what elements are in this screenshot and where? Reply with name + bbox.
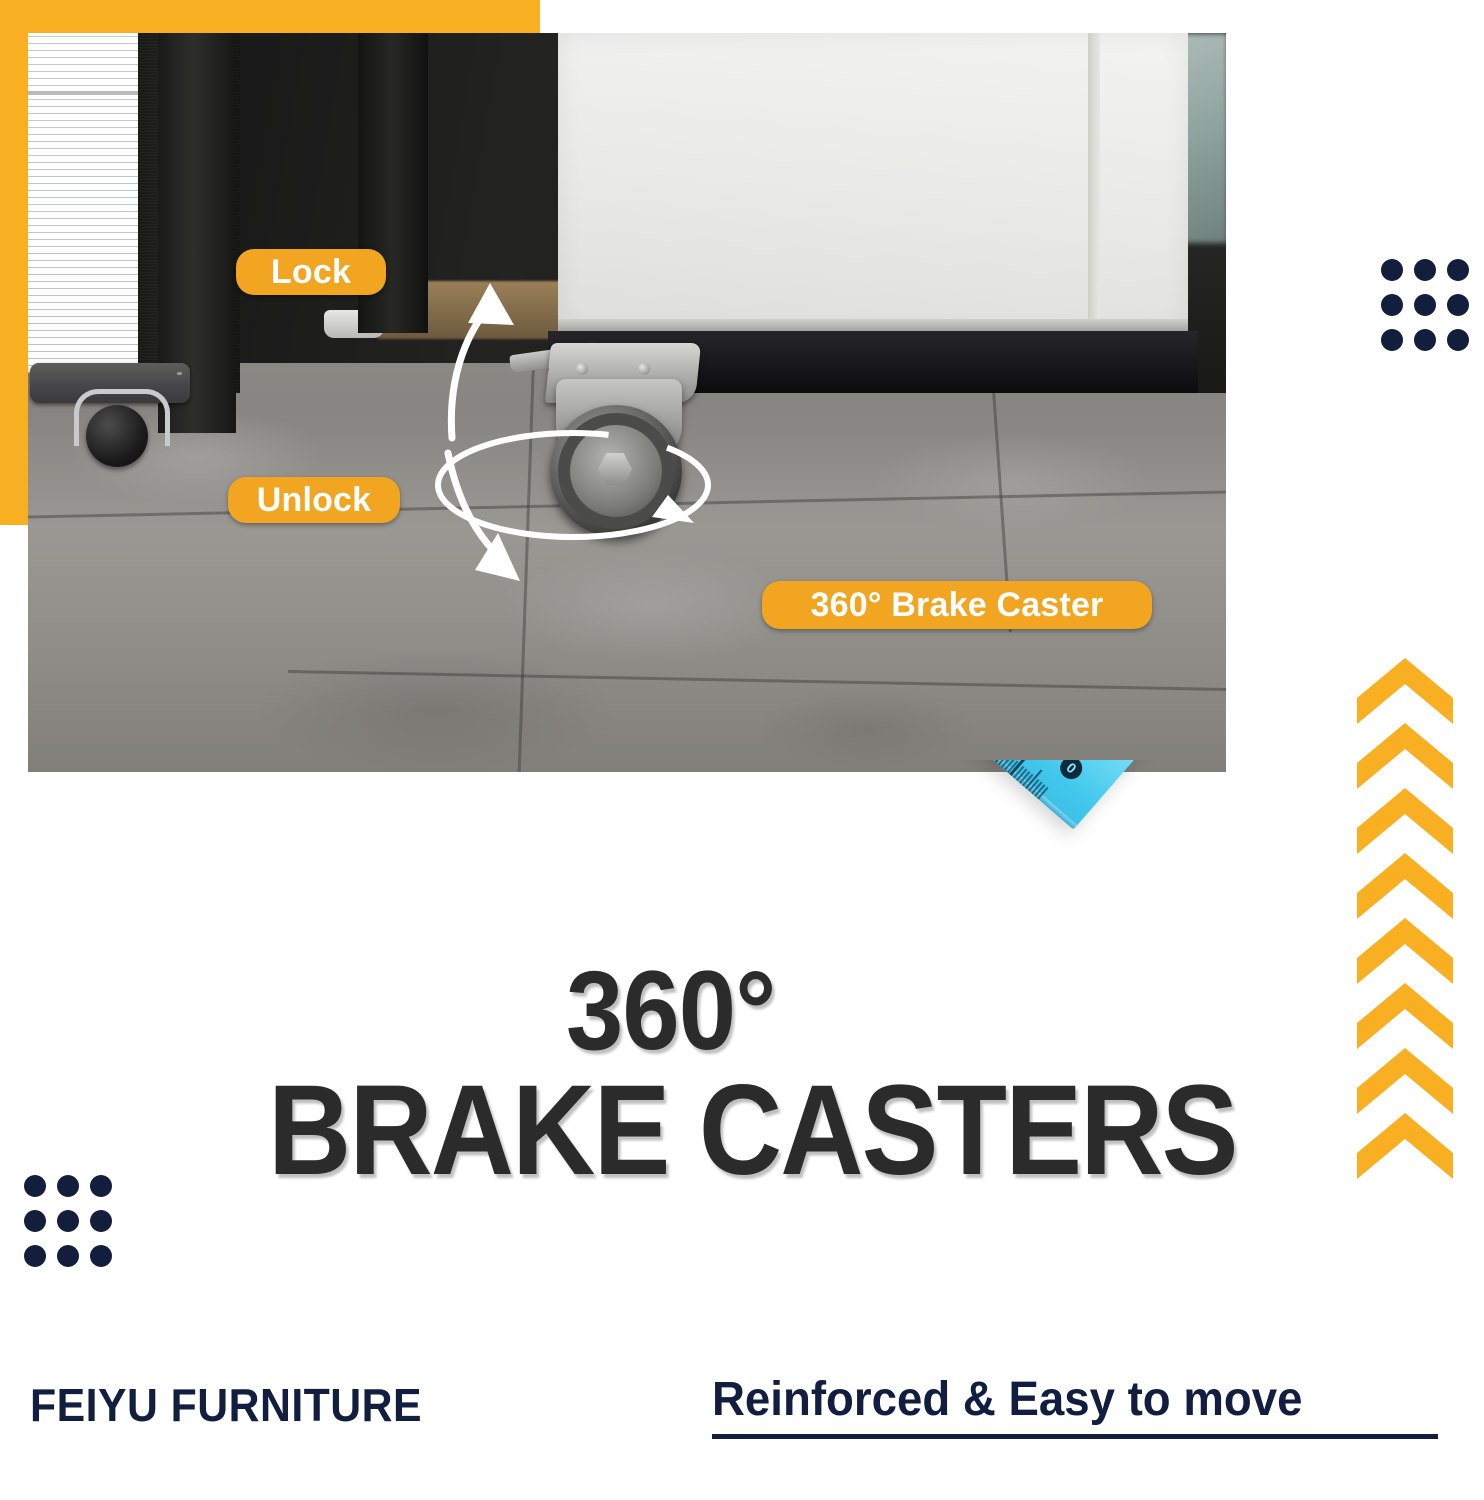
chevron-up-icon bbox=[1353, 719, 1457, 793]
dot bbox=[90, 1175, 112, 1197]
caster-bolt bbox=[576, 363, 588, 375]
handle-highlight bbox=[177, 372, 182, 375]
tagline: Reinforced & Easy to move bbox=[712, 1372, 1302, 1427]
dot-grid-decoration-left bbox=[18, 1168, 118, 1274]
dot bbox=[1447, 259, 1469, 281]
dot bbox=[1414, 329, 1436, 351]
ruler-tick bbox=[1028, 779, 1039, 792]
product-photo-caster: Lock Unlock 360° Brake Caster bbox=[28, 33, 1226, 772]
badge-unlock: Unlock bbox=[228, 477, 400, 523]
dot bbox=[1381, 294, 1403, 316]
chevron-stack-decoration bbox=[1353, 654, 1463, 1166]
chevron-up-icon bbox=[1353, 979, 1457, 1053]
headline-line-1: 360° bbox=[566, 955, 775, 1067]
badge-360-brake-caster: 360° Brake Caster bbox=[762, 581, 1152, 629]
chevron-up-icon bbox=[1353, 914, 1457, 988]
accent-frame-top bbox=[0, 0, 540, 33]
dot bbox=[57, 1175, 79, 1197]
cabinet-edge bbox=[1088, 33, 1100, 333]
tagline-underline bbox=[712, 1434, 1438, 1439]
chevron-up-icon bbox=[1353, 784, 1457, 858]
badge-lock: Lock bbox=[236, 249, 386, 295]
chevron-up-icon bbox=[1353, 654, 1457, 728]
ruler-tick bbox=[1019, 771, 1030, 784]
dot bbox=[24, 1175, 46, 1197]
brand-name: FEIYU FURNITURE bbox=[30, 1378, 422, 1432]
mesh-seam bbox=[28, 91, 138, 95]
caster-bolt bbox=[638, 363, 650, 375]
dot bbox=[24, 1210, 46, 1232]
dot bbox=[1414, 294, 1436, 316]
ruler-tick bbox=[1025, 770, 1042, 789]
mesh-fabric-panel bbox=[28, 33, 138, 373]
main-brake-caster bbox=[518, 333, 728, 543]
dot-grid-decoration-right bbox=[1375, 252, 1475, 358]
product-infographic: Lock Unlock 360° Brake Caster 360° BRAKE… bbox=[0, 0, 1484, 1500]
dot bbox=[1447, 294, 1469, 316]
headline-line-2: BRAKE CASTERS bbox=[268, 1067, 1237, 1195]
chevron-up-icon bbox=[1353, 1109, 1457, 1183]
dot bbox=[1381, 329, 1403, 351]
dot bbox=[57, 1210, 79, 1232]
dot bbox=[1381, 259, 1403, 281]
chevron-up-icon bbox=[1353, 849, 1457, 923]
photo-scene bbox=[28, 33, 1226, 772]
ruler-tick bbox=[1031, 782, 1042, 795]
ruler-tick bbox=[1034, 784, 1045, 797]
dot bbox=[24, 1245, 46, 1267]
secondary-caster-wheel bbox=[86, 405, 148, 467]
accent-frame-left bbox=[0, 0, 28, 525]
dot bbox=[1414, 259, 1436, 281]
dot bbox=[57, 1245, 79, 1267]
chevron-up-icon bbox=[1353, 1044, 1457, 1118]
dot bbox=[90, 1245, 112, 1267]
ruler-tick bbox=[1022, 774, 1033, 787]
ruler-tick bbox=[1037, 787, 1048, 800]
dot bbox=[1447, 329, 1469, 351]
dot bbox=[90, 1210, 112, 1232]
